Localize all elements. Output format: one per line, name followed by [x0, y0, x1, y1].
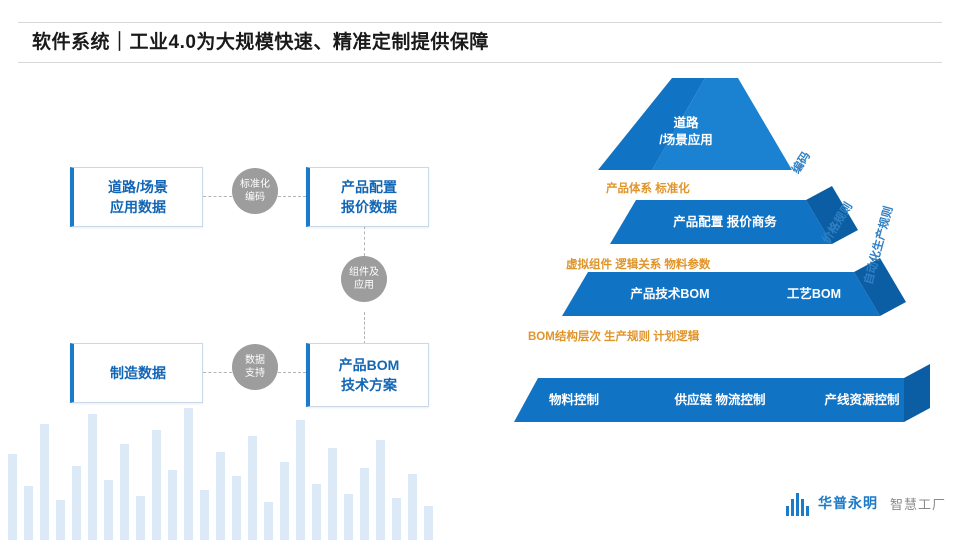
- logo-sub-text: 智慧工厂: [890, 494, 946, 513]
- box-manufacturing-data-label: 制造数据: [110, 363, 166, 383]
- box-road-scene-data[interactable]: 道路/场景 应用数据: [70, 167, 203, 227]
- slide-canvas: 软件系统｜工业4.0为大规模快速、精准定制提供保障 道路/场景 应用数据 产品配…: [0, 0, 960, 540]
- connector-component-and-application-label: 组件及 应用: [349, 266, 379, 292]
- pyramid-level-2-label: 产品配置 报价商务: [630, 214, 820, 231]
- pyramid-level-4-label-1: 物料控制: [514, 392, 634, 409]
- pyramid-level-4-label-2: 供应链 物流控制: [630, 392, 810, 409]
- title-rule-top: [18, 22, 942, 23]
- flow-connector-line-3b: [278, 372, 306, 373]
- box-product-bom-tech-label: 产品BOM 技术方案: [339, 355, 400, 396]
- pyramid-caption-3: BOM结构层次 生产规则 计划逻辑: [528, 328, 699, 344]
- pyramid-level-1-label: 道路 /场景应用: [626, 115, 746, 149]
- pyramid-level-3-label-1: 产品技术BOM: [580, 286, 760, 303]
- pyramid-caption-2: 虚拟组件 逻辑关系 物料参数: [566, 256, 710, 272]
- flow-connector-line-2b: [364, 312, 365, 344]
- pyramid-diagram: 道路 /场景应用 产品配置 报价商务 产品技术BOM 工艺BOM 物料控制 供应…: [470, 60, 960, 480]
- box-manufacturing-data[interactable]: 制造数据: [70, 343, 203, 403]
- pyramid-level-3-label-2: 工艺BOM: [754, 286, 874, 303]
- slide-title-bar: 软件系统｜工业4.0为大规模快速、精准定制提供保障: [0, 22, 960, 62]
- connector-component-and-application[interactable]: 组件及 应用: [341, 256, 387, 302]
- box-road-scene-data-label: 道路/场景 应用数据: [108, 177, 168, 218]
- connector-standard-coding-label: 标准化 编码: [240, 178, 270, 204]
- box-product-config-quote-data[interactable]: 产品配置 报价数据: [306, 167, 429, 227]
- connector-data-support-label: 数据 支持: [245, 354, 265, 380]
- connector-data-support[interactable]: 数据 支持: [232, 344, 278, 390]
- pyramid-level-4-label-3: 产线资源控制: [792, 392, 932, 409]
- logo-brand-text: 华普永明: [818, 493, 878, 513]
- box-product-config-quote-data-label: 产品配置 报价数据: [341, 177, 397, 218]
- flow-connector-line-1a: [198, 196, 232, 197]
- flow-connector-line-3a: [198, 372, 232, 373]
- connector-standard-coding[interactable]: 标准化 编码: [232, 168, 278, 214]
- flow-connector-line-2a: [364, 226, 365, 256]
- page-title: 软件系统｜工业4.0为大规模快速、精准定制提供保障: [32, 27, 489, 54]
- box-product-bom-tech[interactable]: 产品BOM 技术方案: [306, 343, 429, 407]
- pyramid-caption-1: 产品体系 标准化: [606, 180, 690, 196]
- flow-connector-line-1b: [278, 196, 306, 197]
- logo-mark-icon: [786, 492, 812, 516]
- brand-logo: 华普永明 智慧工厂: [786, 490, 946, 520]
